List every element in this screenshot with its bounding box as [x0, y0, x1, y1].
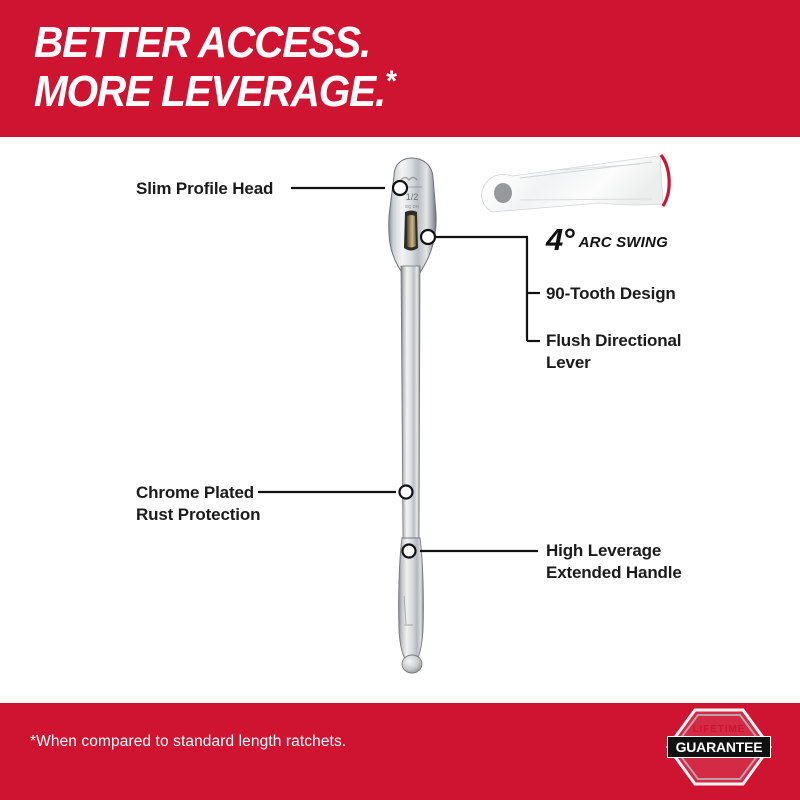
callout-arc-swing: 4°ARC SWING: [546, 222, 668, 258]
arc-swing-degrees: 4°: [546, 222, 574, 257]
leader-dot-high-leverage: [403, 545, 416, 558]
lifetime-guarantee-badge: LIFETIME GUARANTEE: [665, 707, 773, 787]
callout-high-leverage-handle: High Leverage Extended Handle: [546, 540, 682, 584]
badge-guarantee-label: GUARANTEE: [667, 739, 771, 755]
leader-dot-slim-profile: [393, 181, 407, 195]
callout-chrome-plated: Chrome Plated Rust Protection: [136, 482, 260, 526]
arc-swing-label: ARC SWING: [579, 234, 668, 251]
leader-dot-chrome: [400, 486, 413, 499]
infographic-canvas: BETTER ACCESS. MORE LEVERAGE.*: [0, 0, 800, 800]
callout-leader-lines: [0, 0, 800, 800]
badge-lifetime-label: LIFETIME: [665, 724, 773, 735]
leader-dot-arc-swing: [421, 230, 435, 244]
callout-flush-directional-lever: Flush Directional Lever: [546, 330, 681, 374]
callout-tooth-design: 90-Tooth Design: [546, 283, 676, 305]
footer-disclaimer: *When compared to standard length ratche…: [30, 733, 346, 751]
callout-slim-profile-head: Slim Profile Head: [136, 178, 273, 200]
